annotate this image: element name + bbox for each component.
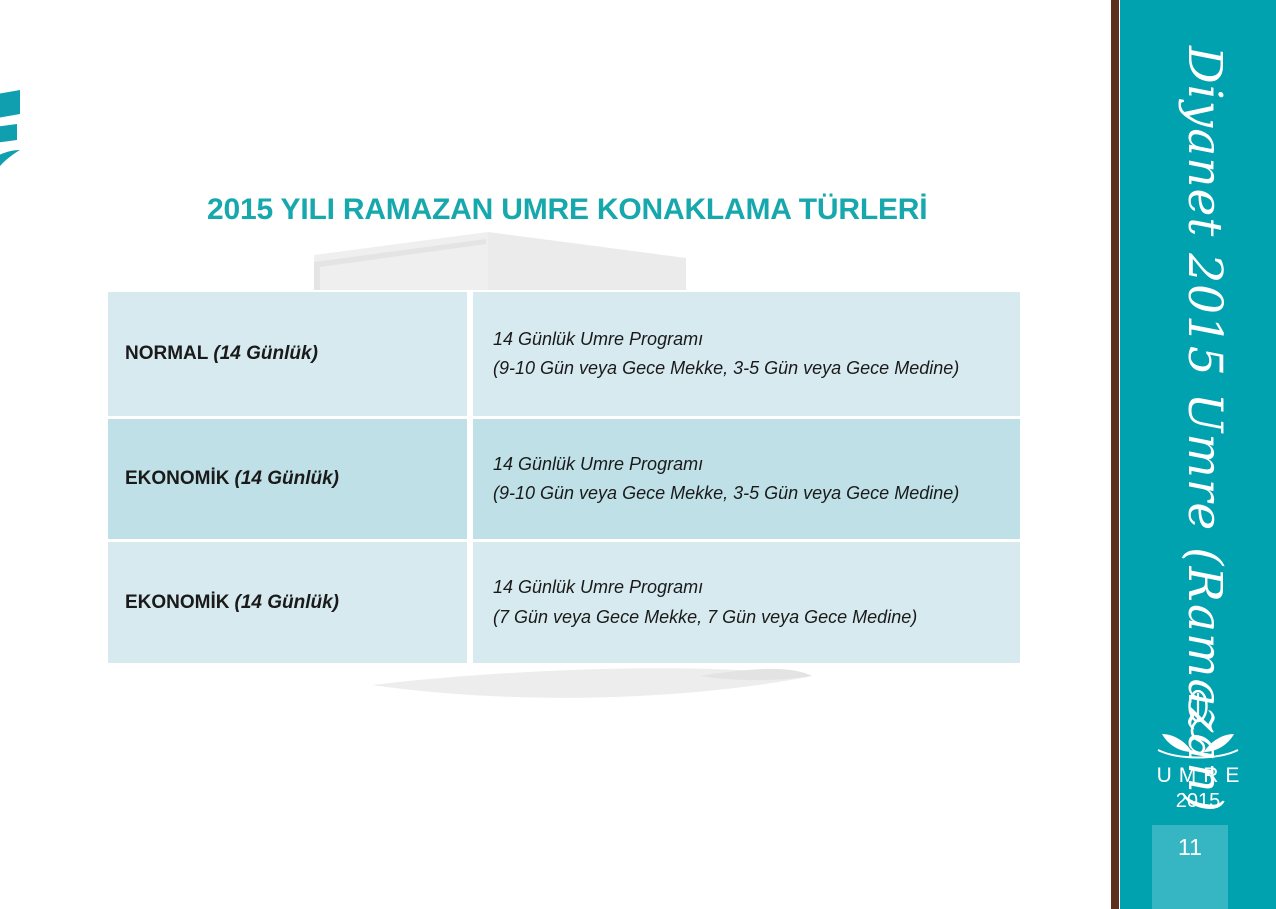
teal-swoosh-corner-icon [0, 88, 56, 180]
type-duration: (14 Günlük) [213, 343, 318, 365]
umre-logo-block: UMRE 2015 [1120, 690, 1276, 813]
umre-lamp-emblem-icon [1152, 690, 1244, 762]
grey-crescent-swoosh-icon [372, 668, 812, 698]
table-cell-type: EKONOMİK(14 Günlük) [108, 419, 467, 539]
grey-angular-roof-shape-icon [314, 232, 686, 290]
accommodation-types-table: NORMAL(14 Günlük) 14 Günlük Umre Program… [108, 292, 1020, 663]
slide-canvas: 2015 YILI RAMAZAN UMRE KONAKLAMA TÜRLERİ… [0, 0, 1276, 909]
table-cell-detail: 14 Günlük Umre Programı (7 Gün veya Gece… [473, 542, 1020, 663]
logo-wordmark: UMRE [1120, 764, 1276, 788]
detail-line-primary: 14 Günlük Umre Programı [493, 450, 959, 479]
detail-line-primary: 14 Günlük Umre Programı [493, 573, 917, 602]
page-number-box: 11 [1152, 825, 1228, 909]
type-duration: (14 Günlük) [235, 468, 340, 490]
table-cell-type: NORMAL(14 Günlük) [108, 292, 467, 416]
table-row: EKONOMİK(14 Günlük) 14 Günlük Umre Progr… [108, 542, 1020, 663]
logo-year: 2015 [1120, 790, 1276, 813]
page-number: 11 [1152, 825, 1228, 861]
page-title: 2015 YILI RAMAZAN UMRE KONAKLAMA TÜRLERİ [207, 193, 927, 227]
type-name: NORMAL [125, 343, 208, 365]
table-row: EKONOMİK(14 Günlük) 14 Günlük Umre Progr… [108, 419, 1020, 539]
detail-line-primary: 14 Günlük Umre Programı [493, 325, 959, 354]
detail-line-secondary: (7 Gün veya Gece Mekke, 7 Gün veya Gece … [493, 603, 917, 632]
table-cell-detail: 14 Günlük Umre Programı (9-10 Gün veya G… [473, 419, 1020, 539]
type-name: EKONOMİK [125, 592, 230, 614]
detail-line-secondary: (9-10 Gün veya Gece Mekke, 3-5 Gün veya … [493, 354, 959, 383]
right-sidebar: Diyanet 2015 Umre (Ramazan) UMRE 2015 11 [1120, 0, 1276, 909]
table-cell-detail: 14 Günlük Umre Programı (9-10 Gün veya G… [473, 292, 1020, 416]
type-duration: (14 Günlük) [235, 592, 340, 614]
vertical-brand-text-container: Diyanet 2015 Umre (Ramazan) [1120, 0, 1276, 700]
table-cell-type: EKONOMİK(14 Günlük) [108, 542, 467, 663]
table-row: NORMAL(14 Günlük) 14 Günlük Umre Program… [108, 292, 1020, 416]
type-name: EKONOMİK [125, 468, 230, 490]
detail-line-secondary: (9-10 Gün veya Gece Mekke, 3-5 Gün veya … [493, 479, 959, 508]
